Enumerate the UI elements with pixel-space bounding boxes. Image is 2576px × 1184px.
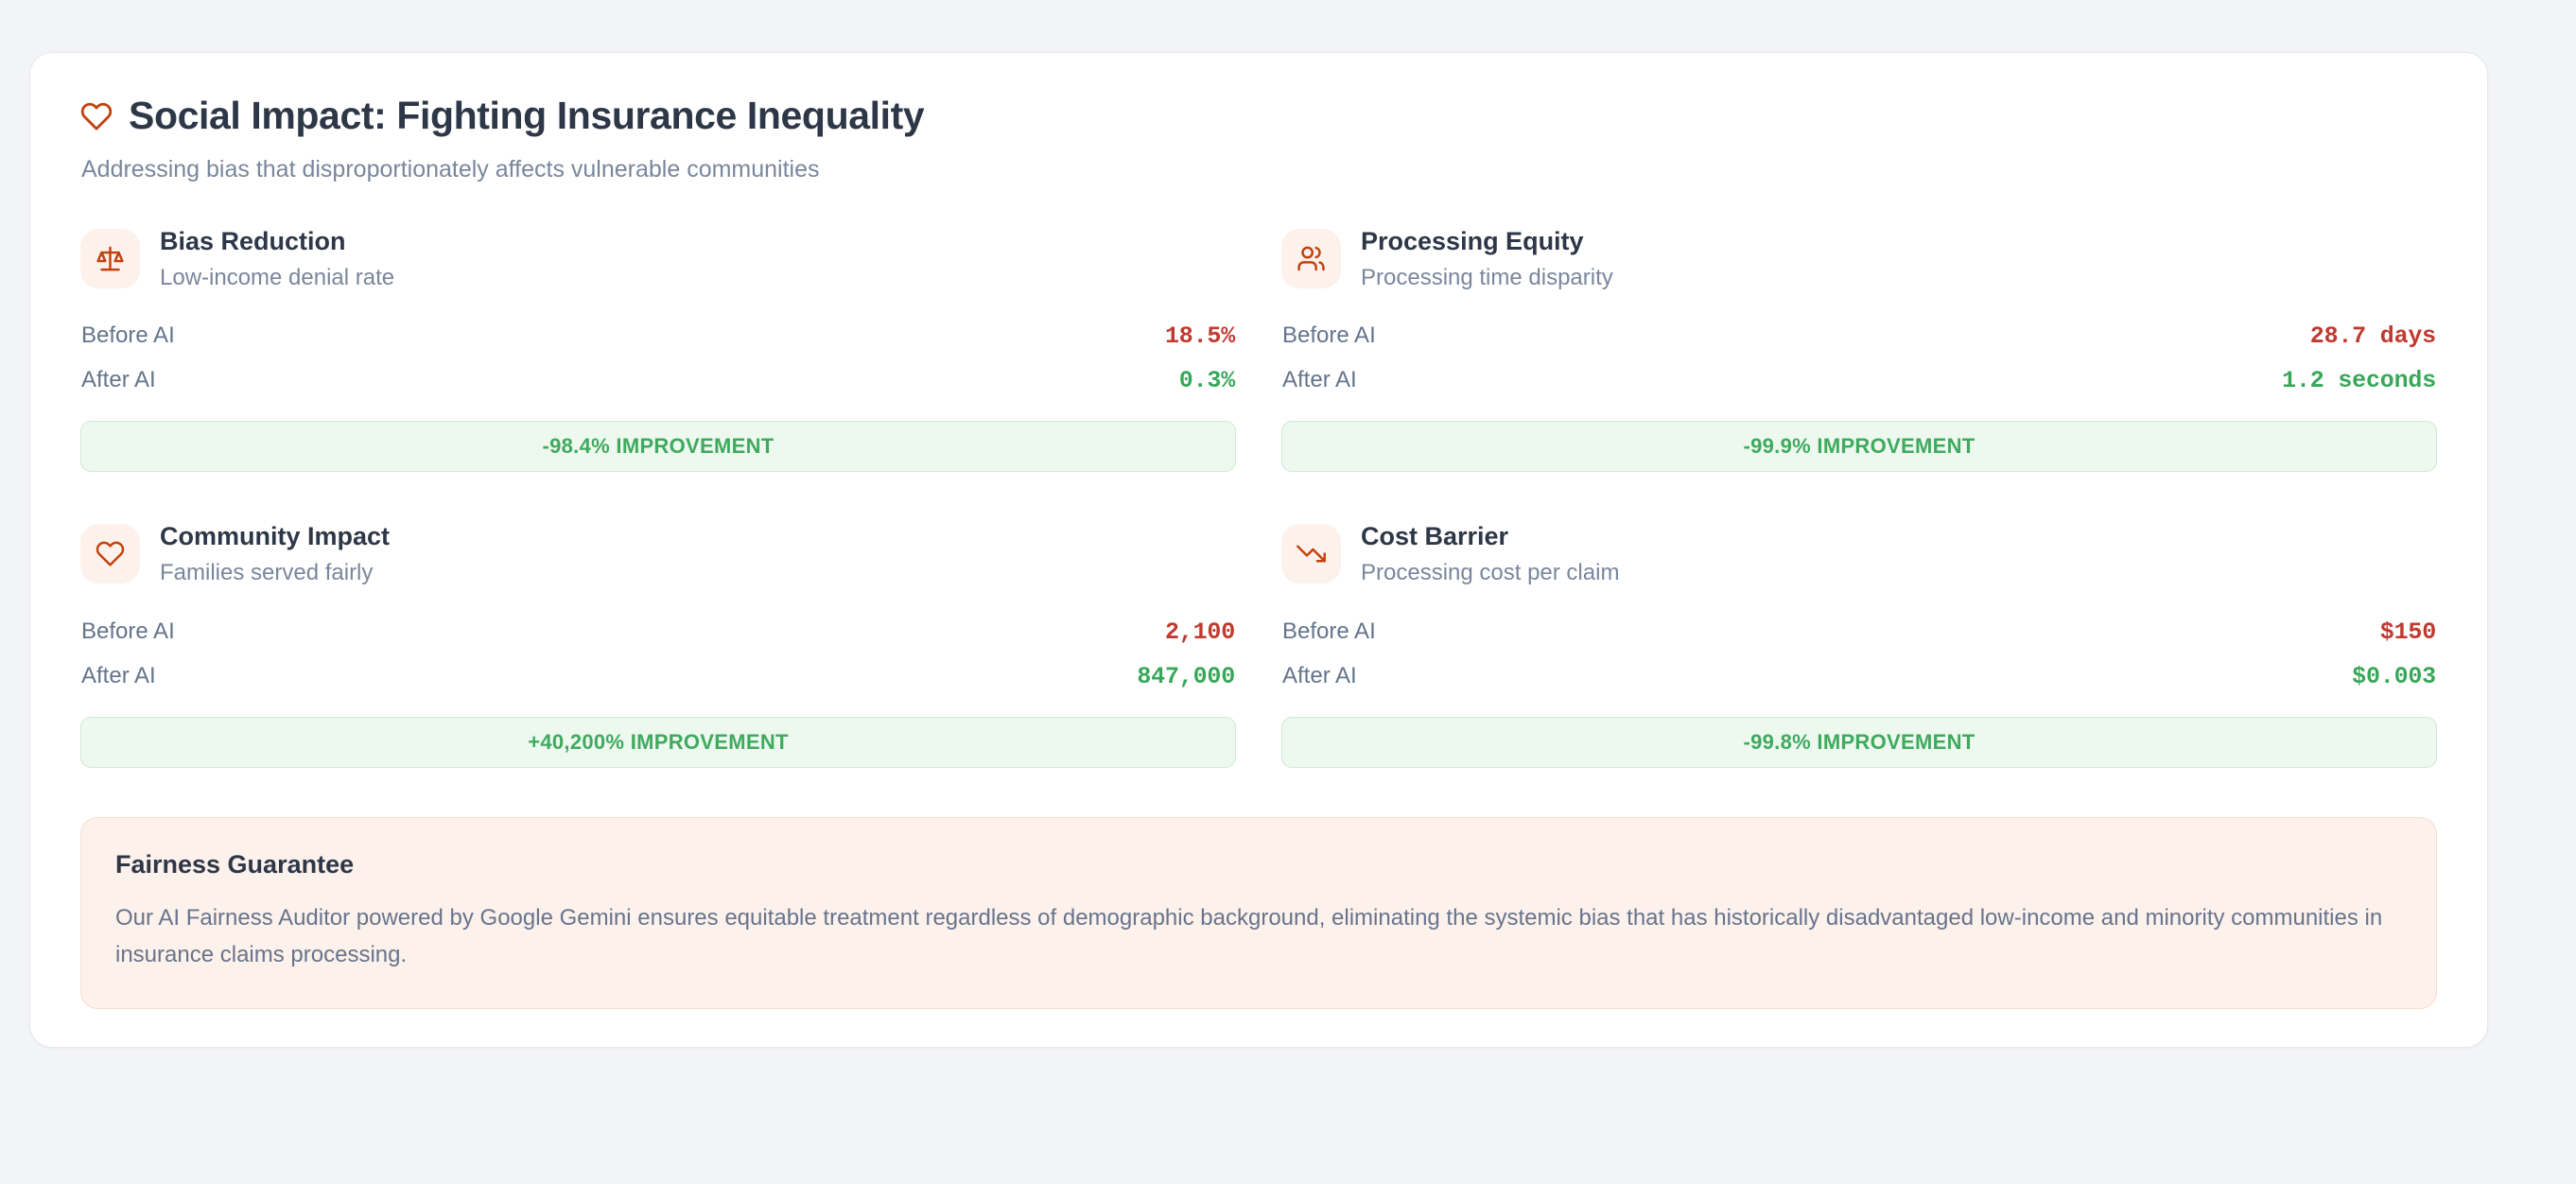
metric-card-community-impact: Community Impact Families served fairly … — [80, 522, 1236, 768]
metric-description: Families served fairly — [160, 560, 390, 587]
metric-rows: Before AI 28.7 days After AI 1.2 seconds — [1281, 314, 2437, 403]
fairness-guarantee-box: Fairness Guarantee Our AI Fairness Audit… — [80, 817, 2437, 1009]
metric-name: Processing Equity — [1361, 227, 1613, 256]
before-value: 2,100 — [1165, 618, 1235, 646]
heart-icon — [80, 524, 140, 583]
metric-description: Processing time disparity — [1361, 265, 1613, 292]
after-label: After AI — [81, 367, 156, 393]
after-label: After AI — [1282, 663, 1357, 689]
metric-name: Community Impact — [160, 522, 390, 551]
panel-header: Social Impact: Fighting Insurance Inequa… — [80, 95, 2437, 185]
users-icon — [1281, 229, 1341, 288]
fairness-text: Our AI Fairness Auditor powered by Googl… — [115, 900, 2402, 974]
metric-name: Bias Reduction — [160, 227, 394, 256]
scales-icon — [80, 229, 140, 288]
before-value: 18.5% — [1165, 322, 1235, 350]
before-label: Before AI — [1282, 322, 1376, 349]
metric-card-cost-barrier: Cost Barrier Processing cost per claim B… — [1281, 522, 2437, 768]
social-impact-panel: Social Impact: Fighting Insurance Inequa… — [29, 52, 2488, 1048]
metric-card-processing-equity: Processing Equity Processing time dispar… — [1281, 227, 2437, 473]
metric-row-after: After AI $0.003 — [1281, 654, 2437, 699]
after-value: 847,000 — [1137, 663, 1235, 690]
metric-row-before: Before AI 2,100 — [80, 610, 1236, 654]
metric-name: Cost Barrier — [1361, 522, 1619, 551]
heart-icon — [80, 100, 113, 132]
before-label: Before AI — [81, 322, 175, 349]
after-label: After AI — [81, 663, 156, 689]
improvement-badge: +40,200% IMPROVEMENT — [80, 717, 1236, 768]
metric-header: Community Impact Families served fairly — [80, 522, 1236, 587]
metric-titles: Processing Equity Processing time dispar… — [1361, 227, 1613, 292]
metric-rows: Before AI 18.5% After AI 0.3% — [80, 314, 1236, 403]
improvement-badge: -98.4% IMPROVEMENT — [80, 421, 1236, 472]
before-value: $150 — [2380, 618, 2436, 646]
after-value: 1.2 seconds — [2282, 367, 2436, 394]
metric-header: Bias Reduction Low-income denial rate — [80, 227, 1236, 292]
metric-card-bias-reduction: Bias Reduction Low-income denial rate Be… — [80, 227, 1236, 473]
page-subtitle: Addressing bias that disproportionately … — [81, 154, 2437, 185]
title-row: Social Impact: Fighting Insurance Inequa… — [80, 95, 2437, 137]
metric-row-after: After AI 1.2 seconds — [1281, 358, 2437, 403]
improvement-badge: -99.9% IMPROVEMENT — [1281, 421, 2437, 472]
metric-titles: Cost Barrier Processing cost per claim — [1361, 522, 1619, 587]
metric-row-after: After AI 0.3% — [80, 358, 1236, 403]
trending-down-icon — [1281, 524, 1341, 583]
metric-rows: Before AI $150 After AI $0.003 — [1281, 610, 2437, 699]
metric-rows: Before AI 2,100 After AI 847,000 — [80, 610, 1236, 699]
metric-row-before: Before AI $150 — [1281, 610, 2437, 654]
metric-titles: Community Impact Families served fairly — [160, 522, 390, 587]
metric-grid: Bias Reduction Low-income denial rate Be… — [80, 227, 2437, 769]
after-value: 0.3% — [1179, 367, 1235, 394]
after-label: After AI — [1282, 367, 1357, 393]
after-value: $0.003 — [2352, 663, 2436, 690]
metric-titles: Bias Reduction Low-income denial rate — [160, 227, 394, 292]
metric-row-before: Before AI 18.5% — [80, 314, 1236, 358]
metric-description: Low-income denial rate — [160, 265, 394, 292]
before-value: 28.7 days — [2310, 322, 2436, 350]
metric-header: Cost Barrier Processing cost per claim — [1281, 522, 2437, 587]
metric-header: Processing Equity Processing time dispar… — [1281, 227, 2437, 292]
metric-row-after: After AI 847,000 — [80, 654, 1236, 699]
page-title: Social Impact: Fighting Insurance Inequa… — [129, 95, 924, 137]
fairness-title: Fairness Guarantee — [115, 850, 2402, 879]
improvement-badge: -99.8% IMPROVEMENT — [1281, 717, 2437, 768]
before-label: Before AI — [81, 618, 175, 645]
metric-row-before: Before AI 28.7 days — [1281, 314, 2437, 358]
metric-description: Processing cost per claim — [1361, 560, 1619, 587]
before-label: Before AI — [1282, 618, 1376, 645]
page-root: Social Impact: Fighting Insurance Inequa… — [0, 0, 2576, 1184]
